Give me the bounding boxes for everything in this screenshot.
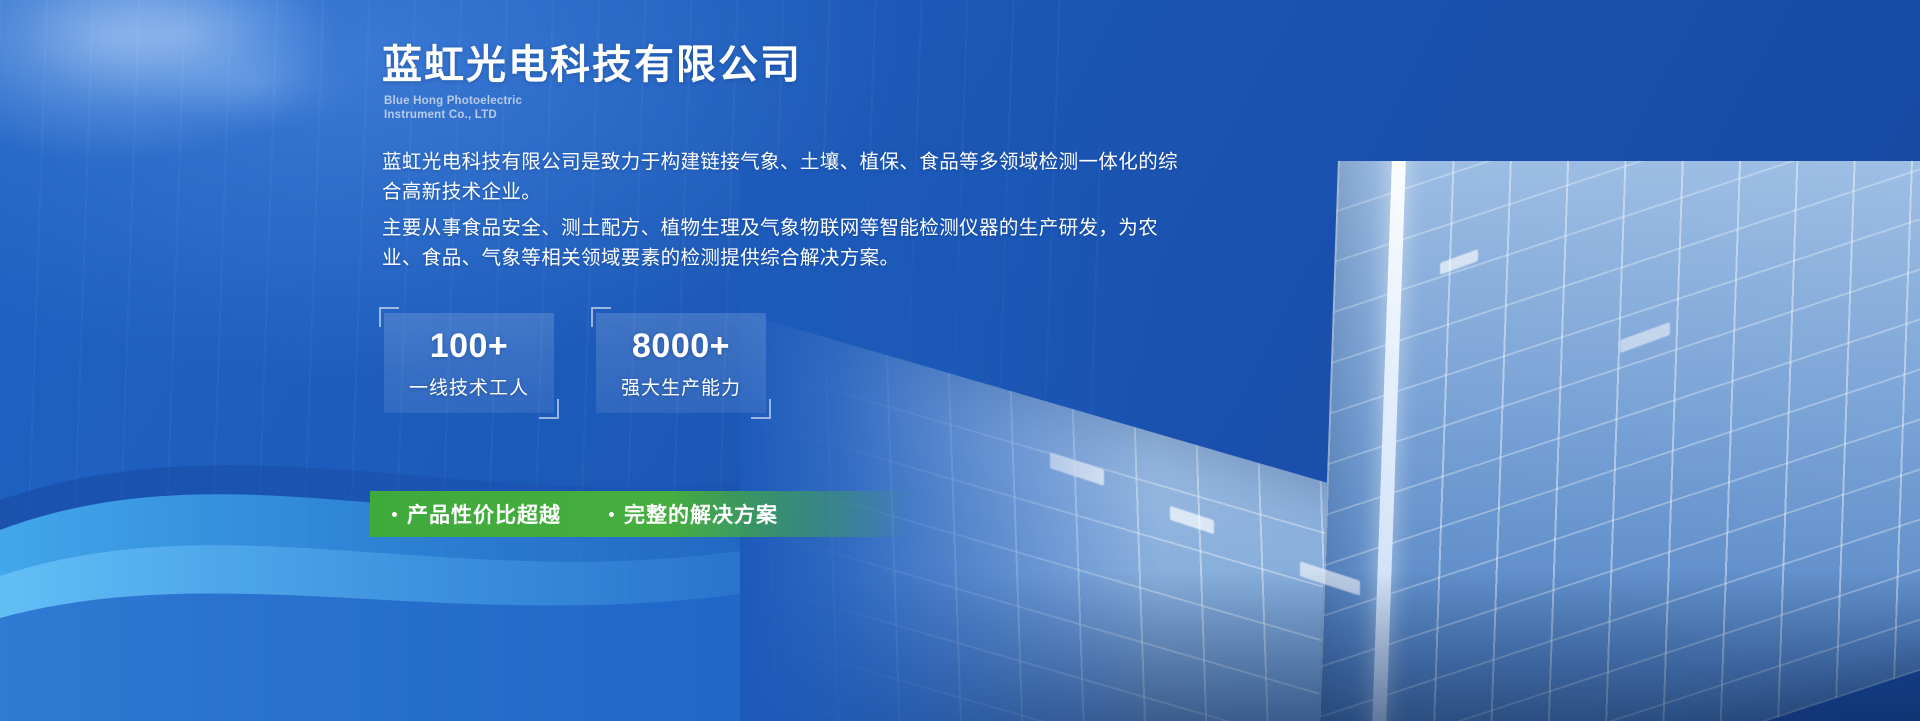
hero-content: 蓝虹光电科技有限公司 Blue Hong Photoelectric Instr… xyxy=(0,0,1920,721)
company-title: 蓝虹光电科技有限公司 xyxy=(382,42,802,88)
stat-label: 强大生产能力 xyxy=(621,373,741,400)
bullet-dot-icon xyxy=(392,512,397,517)
feature-tag-label: 产品性价比超越 xyxy=(407,499,561,529)
bullet-dot-icon xyxy=(609,512,614,517)
stat-label: 一线技术工人 xyxy=(409,373,529,400)
stat-number: 100+ xyxy=(430,327,509,366)
intro-paragraph-2: 主要从事食品安全、测土配方、植物生理及气象物联网等智能检测仪器的生产研发，为农业… xyxy=(382,213,1182,273)
stat-card-technicians: 100+ 一线技术工人 xyxy=(384,313,554,413)
hero-banner: 蓝虹光电科技有限公司 Blue Hong Photoelectric Instr… xyxy=(0,0,1920,721)
feature-tag-solution: 完整的解决方案 xyxy=(609,499,778,529)
intro-paragraph-1: 蓝虹光电科技有限公司是致力于构建链接气象、土壤、植保、食品等多领域检测一体化的综… xyxy=(382,147,1182,207)
stat-card-capacity: 8000+ 强大生产能力 xyxy=(596,313,766,413)
subtitle-line-2: Instrument Co., LTD xyxy=(384,108,522,122)
subtitle-line-1: Blue Hong Photoelectric xyxy=(384,94,522,108)
feature-tag-value: 产品性价比超越 xyxy=(392,499,561,529)
feature-tag-label: 完整的解决方案 xyxy=(624,499,778,529)
stats-group: 100+ 一线技术工人 8000+ 强大生产能力 xyxy=(384,313,766,413)
stat-number: 8000+ xyxy=(632,327,730,366)
feature-tag-bar: 产品性价比超越 完整的解决方案 xyxy=(370,491,910,537)
company-subtitle-english: Blue Hong Photoelectric Instrument Co., … xyxy=(384,94,522,122)
